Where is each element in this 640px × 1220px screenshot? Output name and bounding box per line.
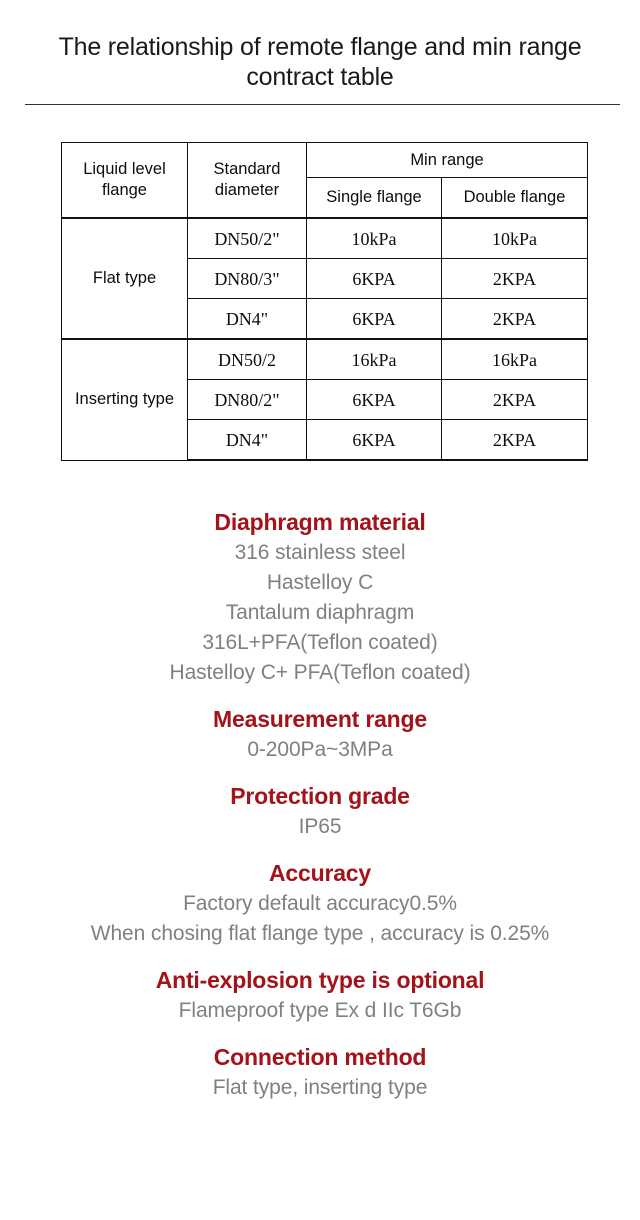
spec-line: 316L+PFA(Teflon coated): [0, 628, 640, 658]
group-label-flat-type: Flat type: [62, 218, 188, 339]
cell-diameter: DN80/2": [188, 380, 307, 420]
cell-single-flange: 16kPa: [307, 339, 442, 380]
cell-diameter: DN4": [188, 420, 307, 461]
cell-single-flange: 6KPA: [307, 259, 442, 299]
table-row: Inserting type DN50/2 16kPa 16kPa: [62, 339, 588, 380]
spec-block-anti-explosion-type: Anti-explosion type is optional Flamepro…: [0, 965, 640, 1026]
cell-double-flange: 2KPA: [442, 299, 588, 340]
cell-diameter: DN4": [188, 299, 307, 340]
cell-single-flange: 6KPA: [307, 380, 442, 420]
spec-block-connection-method: Connection method Flat type, inserting t…: [0, 1042, 640, 1103]
cell-double-flange: 2KPA: [442, 380, 588, 420]
header-single-flange: Single flange: [307, 178, 442, 219]
spec-line: Flameproof type Ex d IIc T6Gb: [0, 996, 640, 1026]
table-row: Flat type DN50/2" 10kPa 10kPa: [62, 218, 588, 259]
spec-heading: Accuracy: [0, 858, 640, 889]
spec-heading: Anti-explosion type is optional: [0, 965, 640, 996]
spec-line: When chosing flat flange type , accuracy…: [0, 919, 640, 949]
spec-block-protection-grade: Protection grade IP65: [0, 781, 640, 842]
table-body: Liquid level flange Standard diameter Mi…: [62, 143, 588, 461]
spec-line: Factory default accuracy0.5%: [0, 889, 640, 919]
spec-line: Tantalum diaphragm: [0, 598, 640, 628]
spec-line: 316 stainless steel: [0, 538, 640, 568]
spec-block-measurement-range: Measurement range 0-200Pa~3MPa: [0, 704, 640, 765]
cell-double-flange: 10kPa: [442, 218, 588, 259]
group-label-inserting-type: Inserting type: [62, 339, 188, 460]
header-liquid-level-flange: Liquid level flange: [62, 143, 188, 219]
spec-block-accuracy: Accuracy Factory default accuracy0.5% Wh…: [0, 858, 640, 949]
spacer: [0, 688, 640, 704]
cell-double-flange: 2KPA: [442, 259, 588, 299]
spacer: [0, 765, 640, 781]
cell-double-flange: 2KPA: [442, 420, 588, 461]
header-double-flange: Double flange: [442, 178, 588, 219]
table-header-row-1: Liquid level flange Standard diameter Mi…: [62, 143, 588, 178]
cell-diameter: DN80/3": [188, 259, 307, 299]
spec-heading: Connection method: [0, 1042, 640, 1073]
spacer: [0, 949, 640, 965]
cell-double-flange: 16kPa: [442, 339, 588, 380]
spec-heading: Protection grade: [0, 781, 640, 812]
spacer: [0, 1026, 640, 1042]
specifications-list: Diaphragm material 316 stainless steel H…: [0, 507, 640, 1103]
spec-line: 0-200Pa~3MPa: [0, 735, 640, 765]
spec-line: Flat type, inserting type: [0, 1073, 640, 1103]
spacer: [0, 842, 640, 858]
cell-diameter: DN50/2": [188, 218, 307, 259]
spec-heading: Measurement range: [0, 704, 640, 735]
spec-line: Hastelloy C: [0, 568, 640, 598]
spec-line: Hastelloy C+ PFA(Teflon coated): [0, 658, 640, 688]
title-divider: [25, 104, 620, 105]
header-min-range: Min range: [307, 143, 588, 178]
cell-single-flange: 6KPA: [307, 299, 442, 340]
header-standard-diameter: Standard diameter: [188, 143, 307, 219]
remote-flange-min-range-table: Liquid level flange Standard diameter Mi…: [61, 142, 588, 461]
page-title: The relationship of remote flange and mi…: [40, 32, 600, 92]
spec-heading: Diaphragm material: [0, 507, 640, 538]
cell-single-flange: 6KPA: [307, 420, 442, 461]
cell-diameter: DN50/2: [188, 339, 307, 380]
cell-single-flange: 10kPa: [307, 218, 442, 259]
spec-line: IP65: [0, 812, 640, 842]
spec-block-diaphragm-material: Diaphragm material 316 stainless steel H…: [0, 507, 640, 688]
